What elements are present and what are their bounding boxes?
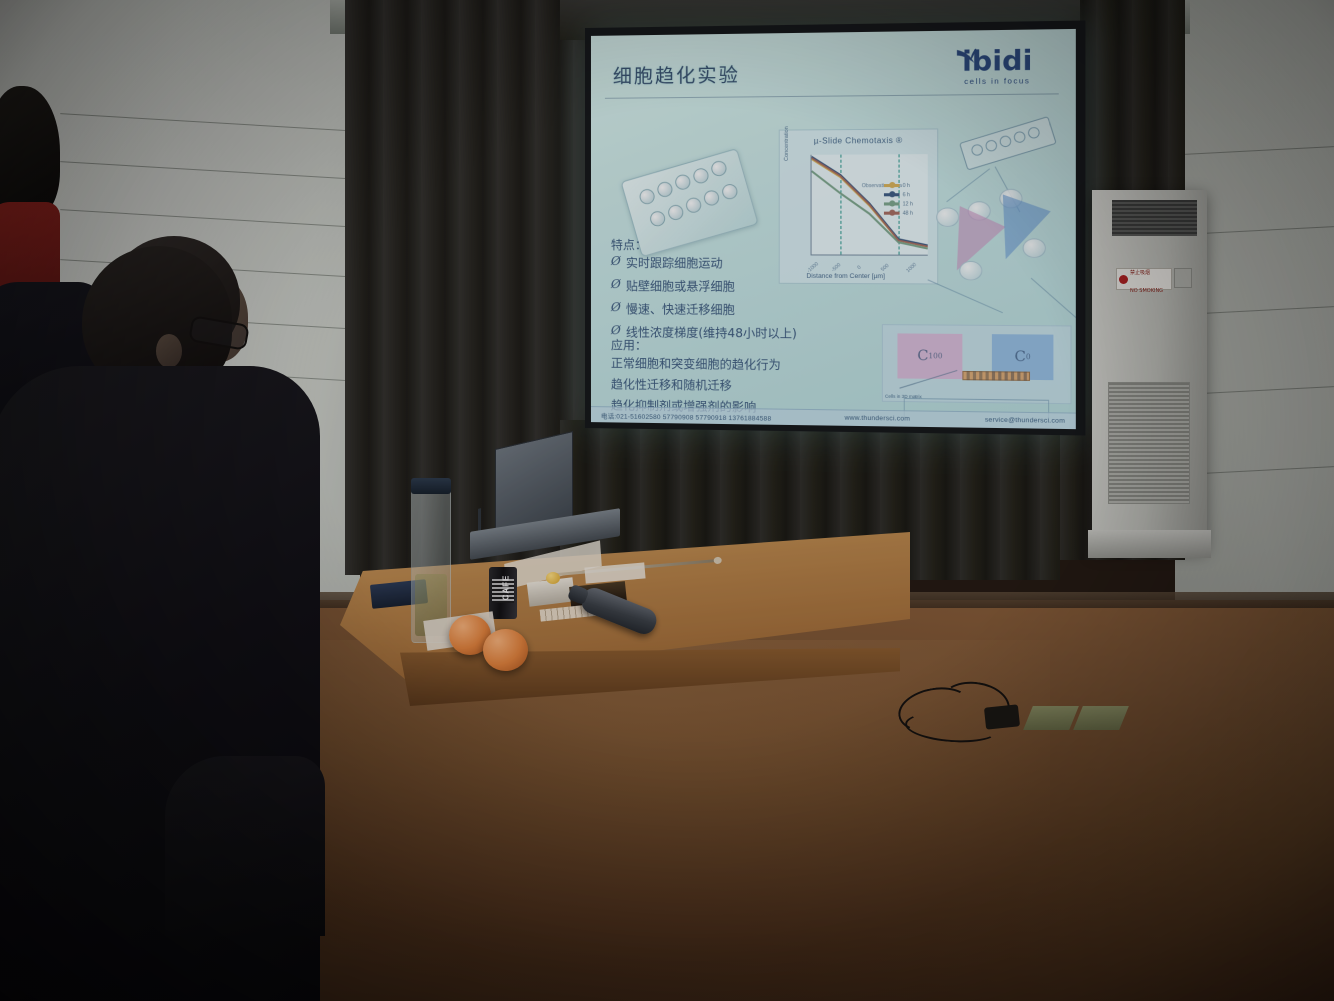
meeting-room-photo: 细胞趋化实验 ibidi cells in focus xyxy=(0,0,1334,1001)
bottle-cap[interactable] xyxy=(411,478,451,494)
bullet-icon: Ø xyxy=(611,300,626,314)
coffee-can[interactable]: CAFE xyxy=(489,567,517,619)
feature-item: Ø 慢速、快速迁移细胞 xyxy=(611,300,797,318)
application-item: 正常细胞和突变细胞的趋化行为 xyxy=(611,354,781,373)
ac-top-grill xyxy=(1112,200,1197,236)
schematic-well xyxy=(998,134,1013,148)
feature-item: Ø 实时跟踪细胞运动 xyxy=(611,254,797,272)
chemotaxis-schematic xyxy=(930,124,1067,311)
bullet-icon: Ø xyxy=(611,277,626,291)
feature-text: 贴壁细胞或悬浮细胞 xyxy=(626,277,735,295)
x-tick-label: 0 xyxy=(856,265,862,271)
ibidi-swoosh-icon xyxy=(955,47,978,70)
hair xyxy=(0,86,60,218)
no-smoking-icon xyxy=(1119,275,1128,284)
can-text: CAFE xyxy=(501,575,510,601)
no-smoking-text: 禁止吸烟 NO SMOKING xyxy=(1130,261,1163,297)
bullet-icon: Ø xyxy=(611,254,626,268)
projection-screen: 细胞趋化实验 ibidi cells in focus xyxy=(585,20,1085,435)
feature-item: Ø 贴壁细胞或悬浮细胞 xyxy=(611,277,797,295)
legend-label: 0 h xyxy=(903,182,910,188)
legend-swatch xyxy=(884,193,900,196)
features-list: Ø 实时跟踪细胞运动 Ø 贴壁细胞或悬浮细胞 Ø 慢速、快速迁移细胞 Ø 线性浓… xyxy=(611,254,797,348)
chart-title: µ-Slide Chemotaxis ® xyxy=(780,136,937,146)
feature-text: 实时跟踪细胞运动 xyxy=(626,254,723,271)
schematic-well xyxy=(984,139,999,153)
bullet-icon: Ø xyxy=(611,323,626,337)
reservoir-label: C xyxy=(1015,349,1026,366)
wall-panel-line xyxy=(1184,146,1334,155)
floor-light-patch xyxy=(1023,706,1079,730)
ac-base xyxy=(1088,530,1211,558)
feature-text: 慢速、快速迁移细胞 xyxy=(626,300,735,318)
audience-member-foreground xyxy=(0,236,320,1001)
arm xyxy=(165,756,325,936)
projected-slide: 细胞趋化实验 ibidi cells in focus xyxy=(591,29,1076,429)
chemotaxis-chart: µ-Slide Chemotaxis ® Concentration Obser… xyxy=(779,128,939,284)
legend-item: 48 h xyxy=(884,209,926,218)
footer-email: service@thundersci.com xyxy=(985,416,1065,424)
schematic-well xyxy=(970,143,984,157)
chart-xlabel: Distance from Center [µm] xyxy=(806,273,885,280)
cell-blob xyxy=(1023,238,1046,258)
leader-line xyxy=(1031,278,1076,321)
x-tick-label: -500 xyxy=(830,262,842,273)
legend-swatch xyxy=(884,202,900,205)
legend-item: 0 h xyxy=(884,181,926,190)
chart-plot-area: Observation Area 0 h xyxy=(811,154,928,256)
features-heading: 特点： xyxy=(611,236,647,253)
legend-label: 6 h xyxy=(903,192,910,198)
ac-control-panel[interactable] xyxy=(1174,268,1192,288)
slide-title: 细胞趋化实验 xyxy=(613,60,740,89)
legend-item: 12 h xyxy=(884,199,926,208)
feature-text: 线性浓度梯度(维持48小时以上) xyxy=(626,323,797,341)
power-adapter xyxy=(984,704,1020,729)
ear xyxy=(156,334,182,368)
legend-swatch xyxy=(884,212,900,215)
observation-channel xyxy=(962,371,1030,381)
ac-bottom-grill xyxy=(1108,382,1190,504)
ibidi-logo: ibidi cells in focus xyxy=(947,48,1048,113)
blue-gradient-triangle xyxy=(982,195,1051,268)
toy-figure xyxy=(546,572,560,584)
footer-phone: 电话:021-51602580 57790908 57790918 137618… xyxy=(601,410,771,422)
slide-outline xyxy=(959,116,1057,171)
legend-label: 12 h xyxy=(903,201,913,207)
leader-line xyxy=(946,168,990,202)
chart-legend: 0 h 6 h 12 h xyxy=(884,181,926,218)
x-tick-label: 1000 xyxy=(905,262,918,274)
chart-ylabel: Concentration xyxy=(784,126,790,161)
legend-label: 48 h xyxy=(903,210,913,216)
no-smoking-sign: 禁止吸烟 NO SMOKING xyxy=(1116,268,1172,290)
floor-light-patch xyxy=(1073,706,1129,730)
x-tick-label: 500 xyxy=(880,263,891,273)
application-item: 趋化性迁移和随机迁移 xyxy=(611,375,781,394)
reservoir-sub: 0 xyxy=(1026,353,1031,361)
schematic-well xyxy=(1027,126,1042,140)
reservoir-sub: 100 xyxy=(928,352,942,360)
applications-heading: 应用： xyxy=(611,336,647,353)
chamber-cross-section: C100 C0 Cells in 3D matrix xyxy=(882,324,1072,404)
schematic-well xyxy=(1012,130,1027,144)
reservoir-label: C xyxy=(917,348,928,365)
footer-website: www.thundersci.com xyxy=(844,415,910,423)
air-conditioner: 禁止吸烟 NO SMOKING xyxy=(1092,190,1207,550)
orange-fruit xyxy=(483,629,528,671)
leader-line xyxy=(928,279,1003,313)
cell-blob xyxy=(959,261,982,281)
legend-item: 6 h xyxy=(884,190,926,199)
legend-swatch xyxy=(884,184,900,187)
